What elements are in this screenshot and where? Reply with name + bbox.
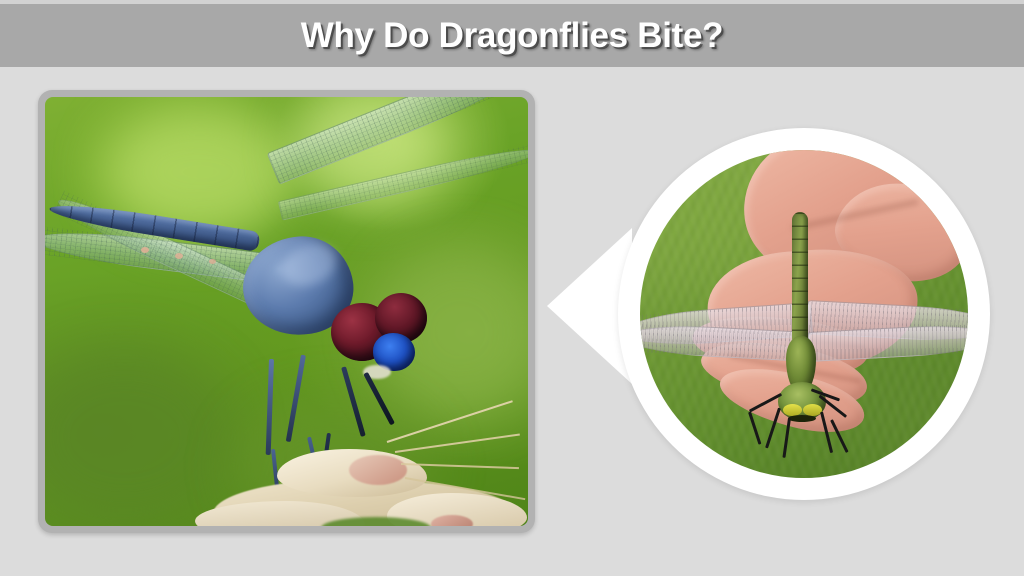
page-title: Why Do Dragonflies Bite? [301, 16, 724, 56]
right-circle-photo [618, 128, 990, 500]
abdomen-spot [209, 259, 216, 264]
abdomen-spot [175, 253, 183, 259]
circle-photo-green-dragonfly [640, 150, 968, 478]
green-dragonfly-leg [830, 419, 848, 452]
left-photo-frame [38, 90, 535, 533]
green-dragonfly-figure [640, 150, 968, 478]
dragonfly-leg [286, 355, 306, 443]
slide-canvas: Why Do Dragonflies Bite? [0, 0, 1024, 576]
green-dragonfly-leg [782, 418, 790, 458]
left-photo-blue-dragonfly [45, 97, 528, 526]
green-dragonfly-mouth [788, 415, 816, 422]
green-dragonfly-leg [820, 412, 833, 453]
green-dragonfly-leg [765, 408, 780, 449]
blue-dragonfly-figure [45, 97, 528, 526]
dragonfly-leg [341, 366, 366, 437]
green-dragonfly-leg [748, 412, 761, 445]
abdomen-segments [792, 212, 808, 344]
seed-head-perch [191, 437, 528, 526]
dragonfly-leg [363, 372, 395, 426]
header-bar: Why Do Dragonflies Bite? [0, 4, 1024, 67]
abdomen-spot [141, 247, 149, 253]
